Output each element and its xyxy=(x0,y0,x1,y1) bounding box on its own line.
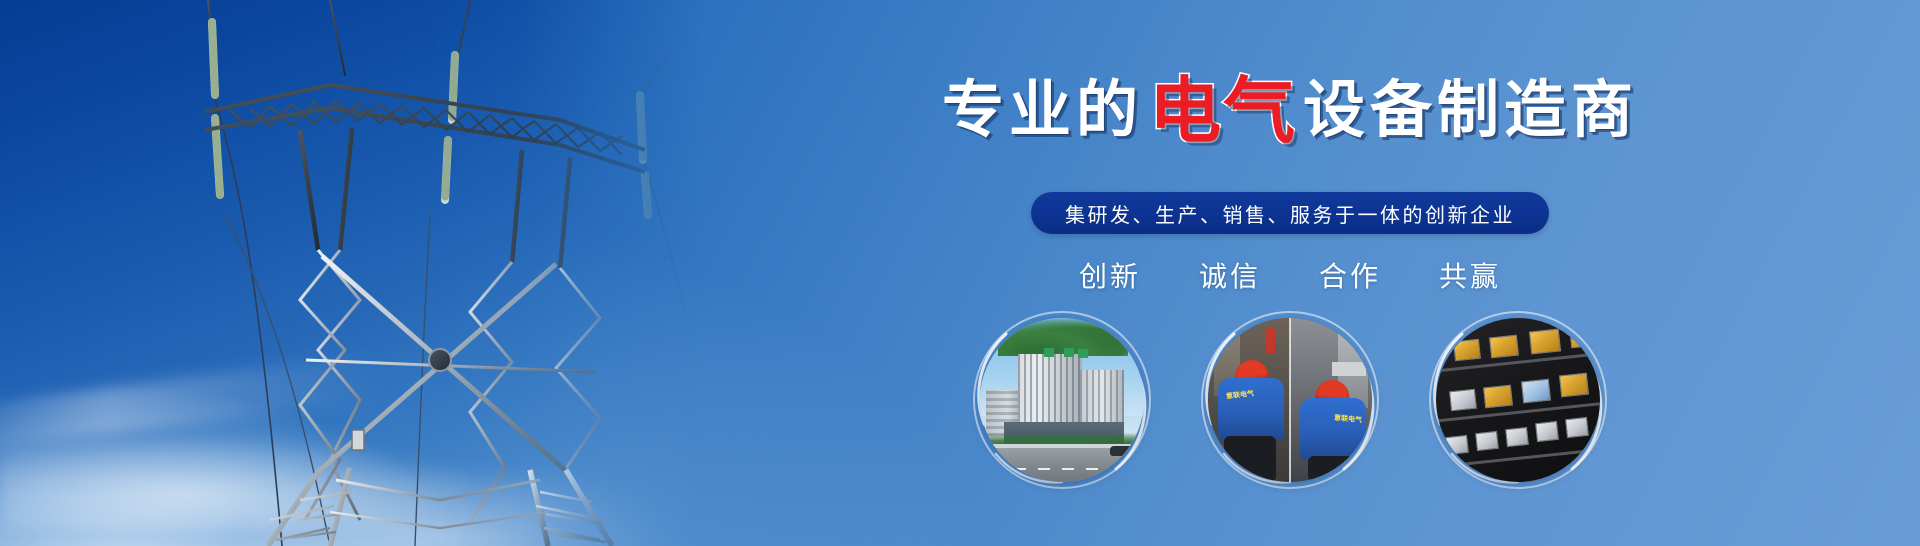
circle-item-certificates[interactable] xyxy=(1436,318,1600,482)
transmission-tower-photo xyxy=(0,0,700,546)
headline-segment-highlight: 电气 xyxy=(1149,69,1297,153)
keyword-winwin: 共赢 xyxy=(1439,255,1501,295)
subtitle-pill: 集研发、生产、销售、服务于一体的创新企业 xyxy=(1031,192,1549,234)
headline: 专业的电气设备制造商 xyxy=(660,70,1920,142)
pylon-structure-icon xyxy=(0,0,700,546)
certificate-wall-photo xyxy=(1436,318,1600,482)
building-photo xyxy=(980,318,1144,482)
banner-content: 专业的电气设备制造商 集研发、生产、销售、服务于一体的创新企业 创新 诚信 合作… xyxy=(660,0,1920,546)
hero-banner: 专业的电气设备制造商 集研发、生产、销售、服务于一体的创新企业 创新 诚信 合作… xyxy=(0,0,1920,546)
keyword-cooperation: 合作 xyxy=(1319,255,1381,295)
circle-item-building[interactable] xyxy=(980,318,1144,482)
keyword-row: 创新 诚信 合作 共赢 xyxy=(660,255,1920,295)
circle-photo-row: 意联电气 意联电气 xyxy=(660,318,1920,482)
headline-segment-3: 设备制造商 xyxy=(1303,73,1638,146)
keyword-innovation: 创新 xyxy=(1079,255,1141,295)
headline-segment-1: 专业的 xyxy=(942,73,1143,146)
subtitle-pill-wrapper: 集研发、生产、销售、服务于一体的创新企业 xyxy=(660,192,1920,234)
keyword-integrity: 诚信 xyxy=(1199,255,1261,295)
circle-item-workers[interactable]: 意联电气 意联电气 xyxy=(1208,318,1372,482)
workers-photo: 意联电气 意联电气 xyxy=(1208,318,1372,482)
